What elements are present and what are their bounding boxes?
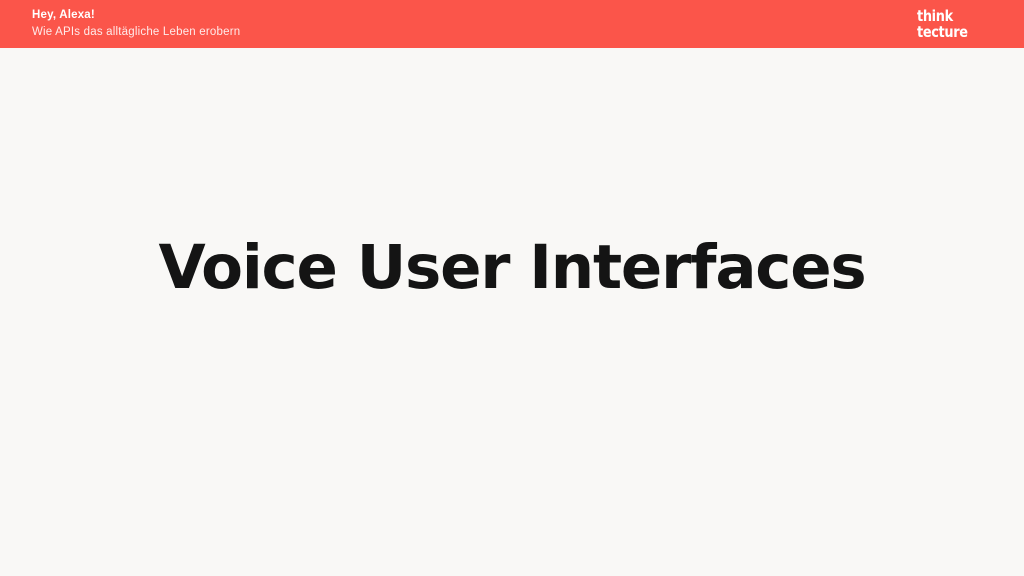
- slide-heading: Voice User Interfaces: [158, 234, 865, 301]
- slide: Hey, Alexa! Wie APIs das alltägliche Leb…: [0, 0, 1024, 576]
- logo-line-think: think: [917, 9, 953, 24]
- header-bar: Hey, Alexa! Wie APIs das alltägliche Leb…: [0, 0, 1024, 48]
- logo-line-tecture: tecture: [917, 25, 968, 40]
- header-text-group: Hey, Alexa! Wie APIs das alltägliche Leb…: [32, 10, 240, 38]
- slide-content-area: Voice User Interfaces: [0, 48, 1024, 576]
- presentation-subtitle: Wie APIs das alltägliche Leben erobern: [32, 27, 240, 39]
- thinktecture-logo: think tecture: [917, 9, 976, 40]
- presentation-title: Hey, Alexa!: [32, 10, 240, 22]
